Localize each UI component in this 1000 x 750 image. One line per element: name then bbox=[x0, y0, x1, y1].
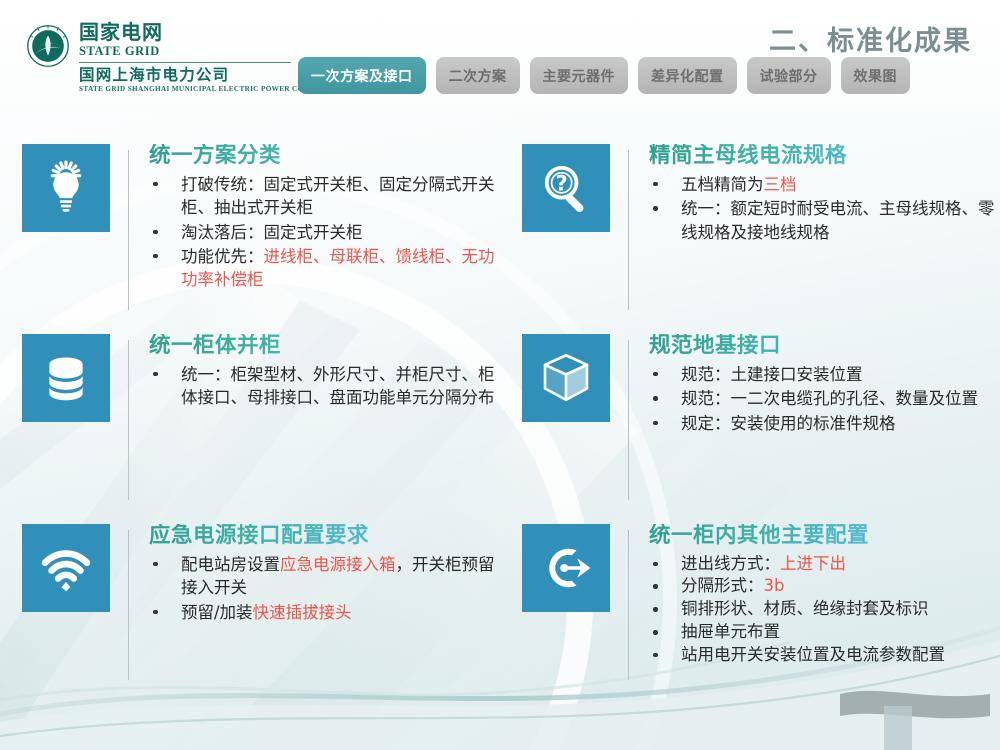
bullet-text: 站用电开关安装位置及电流参数配置 bbox=[681, 645, 945, 664]
bullet-item: 站用电开关安装位置及电流参数配置 bbox=[649, 644, 1000, 667]
block-title: 统一方案分类 bbox=[149, 144, 500, 169]
tab-5[interactable]: 效果图 bbox=[841, 57, 911, 94]
database-stack-icon bbox=[22, 334, 110, 422]
bullet-item: 铜排形状、材质、绝缘封套及标识 bbox=[649, 598, 1000, 621]
feature-block-4: 应急电源接口配置要求配电站房设置应急电源接入箱，开关柜预留接入开关预留/加装快速… bbox=[0, 508, 500, 750]
bullet-text: 统一：柜架型材、外形尺寸、并柜尺寸、柜体接口、母排接口、盘面功能单元分隔分布 bbox=[181, 365, 495, 407]
bullet-text: 配电站房设置 bbox=[181, 555, 280, 574]
bullet-item: 进出线方式：上进下出 bbox=[649, 553, 1000, 576]
block-title: 规范地基接口 bbox=[649, 334, 1000, 359]
bullet-text: 分隔形式： bbox=[681, 576, 764, 595]
bullet-item: 规范：土建接口安装位置 bbox=[649, 363, 1000, 386]
feature-block-3: 规范地基接口规范：土建接口安装位置规范：一二次电缆孔的孔径、数量及位置规定：安装… bbox=[500, 318, 1000, 508]
bullet-list: 进出线方式：上进下出分隔形式：3b铜排形状、材质、绝缘封套及标识抽屉单元布置站用… bbox=[649, 553, 1000, 667]
bullet-highlight-text: 三档 bbox=[764, 175, 797, 194]
bullet-list: 统一：柜架型材、外形尺寸、并柜尺寸、柜体接口、母排接口、盘面功能单元分隔分布 bbox=[149, 363, 500, 410]
bullet-highlight-text: 快速插拔接头 bbox=[253, 603, 352, 622]
text-column: 统一方案分类打破传统：固定式开关柜、固定分隔式开关柜、抽出式开关柜淘汰落后：固定… bbox=[129, 144, 500, 318]
bullet-text: 规定：安装使用的标准件规格 bbox=[681, 414, 896, 433]
icon-column bbox=[22, 334, 110, 508]
icon-column bbox=[22, 524, 110, 750]
logo-subsidiary-cn: 国网上海市电力公司 bbox=[79, 67, 331, 85]
logo-divider bbox=[79, 62, 291, 63]
bullet-highlight-text: 应急电源接入箱 bbox=[280, 555, 396, 574]
bullet-text: 铜排形状、材质、绝缘封套及标识 bbox=[681, 599, 929, 618]
feature-block-0: 统一方案分类打破传统：固定式开关柜、固定分隔式开关柜、抽出式开关柜淘汰落后：固定… bbox=[0, 128, 500, 318]
bullet-item: 规定：安装使用的标准件规格 bbox=[649, 412, 1000, 435]
page-title: 二、标准化成果 bbox=[769, 19, 972, 58]
icon-column bbox=[522, 524, 610, 750]
tab-4[interactable]: 试验部分 bbox=[747, 57, 831, 94]
bullet-item: 统一：柜架型材、外形尺寸、并柜尺寸、柜体接口、母排接口、盘面功能单元分隔分布 bbox=[149, 363, 500, 410]
bullet-item: 分隔形式：3b bbox=[649, 575, 1000, 598]
bullet-text: 功能优先： bbox=[181, 247, 264, 266]
block-title: 统一柜体并柜 bbox=[149, 334, 500, 359]
text-column: 统一柜内其他主要配置进出线方式：上进下出分隔形式：3b铜排形状、材质、绝缘封套及… bbox=[629, 524, 1000, 750]
bullet-list: 五档精简为三档统一：额定短时耐受电流、主母线规格、零线规格及接地线规格 bbox=[649, 173, 1000, 244]
bullet-item: 淘汰落后：固定式开关柜 bbox=[149, 221, 500, 244]
feature-block-2: 统一柜体并柜统一：柜架型材、外形尺寸、并柜尺寸、柜体接口、母排接口、盘面功能单元… bbox=[0, 318, 500, 508]
text-column: 统一柜体并柜统一：柜架型材、外形尺寸、并柜尺寸、柜体接口、母排接口、盘面功能单元… bbox=[129, 334, 500, 508]
text-column: 精简主母线电流规格五档精简为三档统一：额定短时耐受电流、主母线规格、零线规格及接… bbox=[629, 144, 1000, 318]
feature-block-5: 统一柜内其他主要配置进出线方式：上进下出分隔形式：3b铜排形状、材质、绝缘封套及… bbox=[500, 508, 1000, 750]
target-arrow-icon bbox=[522, 524, 610, 612]
bullet-highlight-text: 3b bbox=[764, 576, 785, 595]
slide-header: 国家电网 STATE GRID 国网上海市电力公司 STATE GRID SHA… bbox=[0, 0, 1000, 110]
bullet-text: 淘汰落后：固定式开关柜 bbox=[181, 223, 363, 242]
bullet-item: 功能优先：进线柜、母联柜、馈线柜、无功功率补偿柜 bbox=[149, 245, 500, 292]
logo-company-cn: 国家电网 bbox=[79, 22, 331, 44]
icon-column: ? bbox=[522, 144, 610, 318]
wifi-icon bbox=[22, 524, 110, 612]
bullet-highlight-text: 上进下出 bbox=[780, 554, 846, 573]
tab-3[interactable]: 差异化配置 bbox=[638, 57, 737, 94]
text-column: 规范地基接口规范：土建接口安装位置规范：一二次电缆孔的孔径、数量及位置规定：安装… bbox=[629, 334, 1000, 508]
icon-column bbox=[522, 334, 610, 508]
state-grid-logo: 国家电网 STATE GRID 国网上海市电力公司 STATE GRID SHA… bbox=[26, 22, 331, 94]
bullet-list: 配电站房设置应急电源接入箱，开关柜预留接入开关预留/加装快速插拔接头 bbox=[149, 553, 500, 624]
lightbulb-icon bbox=[22, 144, 110, 232]
bullet-item: 统一：额定短时耐受电流、主母线规格、零线规格及接地线规格 bbox=[649, 197, 1000, 244]
bullet-list: 打破传统：固定式开关柜、固定分隔式开关柜、抽出式开关柜淘汰落后：固定式开关柜功能… bbox=[149, 173, 500, 292]
bullet-item: 规范：一二次电缆孔的孔径、数量及位置 bbox=[649, 387, 1000, 410]
cube-box-icon bbox=[522, 334, 610, 422]
section-tab-bar[interactable]: 一次方案及接口二次方案主要元器件差异化配置试验部分效果图 bbox=[298, 57, 910, 94]
bullet-text: 抽屉单元布置 bbox=[681, 622, 780, 641]
bullet-list: 规范：土建接口安装位置规范：一二次电缆孔的孔径、数量及位置规定：安装使用的标准件… bbox=[649, 363, 1000, 435]
content-grid: 统一方案分类打破传统：固定式开关柜、固定分隔式开关柜、抽出式开关柜淘汰落后：固定… bbox=[0, 128, 1000, 750]
bullet-item: 五档精简为三档 bbox=[649, 173, 1000, 196]
logo-company-en: STATE GRID bbox=[79, 44, 331, 60]
block-title: 应急电源接口配置要求 bbox=[149, 524, 500, 549]
bullet-item: 打破传统：固定式开关柜、固定分隔式开关柜、抽出式开关柜 bbox=[149, 173, 500, 220]
block-title: 精简主母线电流规格 bbox=[649, 144, 1000, 169]
text-column: 应急电源接口配置要求配电站房设置应急电源接入箱，开关柜预留接入开关预留/加装快速… bbox=[129, 524, 500, 750]
bullet-item: 抽屉单元布置 bbox=[649, 621, 1000, 644]
icon-column bbox=[22, 144, 110, 318]
bullet-text: 五档精简为 bbox=[681, 175, 764, 194]
tab-1[interactable]: 二次方案 bbox=[436, 57, 520, 94]
feature-block-1: ? 精简主母线电流规格五档精简为三档统一：额定短时耐受电流、主母线规格、零线规格… bbox=[500, 128, 1000, 318]
magnifier-question-icon: ? bbox=[522, 144, 610, 232]
bullet-text: 规范：一二次电缆孔的孔径、数量及位置 bbox=[681, 389, 978, 408]
tab-0[interactable]: 一次方案及接口 bbox=[298, 57, 426, 94]
block-title: 统一柜内其他主要配置 bbox=[649, 524, 1000, 549]
bullet-text: 预留/加装 bbox=[181, 603, 253, 622]
state-grid-globe-emblem-icon bbox=[26, 24, 70, 68]
bullet-text: 进出线方式： bbox=[681, 554, 780, 573]
bullet-item: 预留/加装快速插拔接头 bbox=[149, 601, 500, 624]
bullet-text: 打破传统：固定式开关柜、固定分隔式开关柜、抽出式开关柜 bbox=[181, 175, 495, 217]
logo-subsidiary-en: STATE GRID SHANGHAI MUNICIPAL ELECTRIC P… bbox=[79, 85, 331, 94]
tab-2[interactable]: 主要元器件 bbox=[530, 57, 629, 94]
svg-text:?: ? bbox=[556, 172, 568, 196]
bullet-item: 配电站房设置应急电源接入箱，开关柜预留接入开关 bbox=[149, 553, 500, 600]
bullet-text: 规范：土建接口安装位置 bbox=[681, 365, 863, 384]
bullet-text: 统一：额定短时耐受电流、主母线规格、零线规格及接地线规格 bbox=[681, 199, 995, 241]
